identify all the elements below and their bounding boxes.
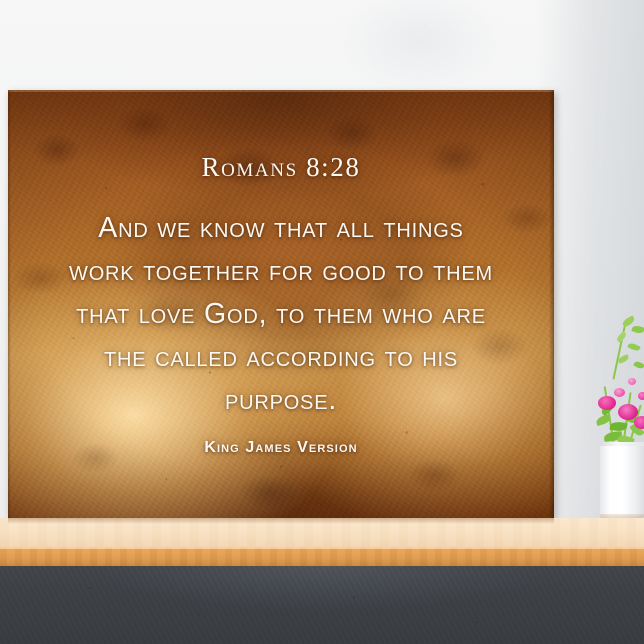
plant-flower [614,388,625,397]
artwork-text-block: Romans 8:28 And we know that all things … [8,90,554,518]
lower-wall [0,566,644,644]
verse-line-5: purpose. [15,379,547,422]
verse-line-2: work together for good to them [15,250,547,293]
verse-line-3: that love God, to them who are [15,293,547,336]
shelf-edge-grain [0,547,644,566]
scripture-canvas-artwork[interactable]: Romans 8:28 And we know that all things … [8,90,554,518]
shelf-edge-highlight [0,547,644,549]
shelf-front-edge [0,547,644,566]
plant-flower [628,378,636,385]
plant-flower [638,392,644,400]
plant-leaf [627,342,640,353]
plant-foliage [588,300,644,460]
canvas-contact-shadow [8,518,554,524]
potted-plant [588,300,644,522]
plant-pot [600,442,644,520]
plant-flower [598,396,616,410]
canvas-top-highlight [8,90,554,92]
verse-line-1: And we know that all things [15,207,547,250]
scripture-verse: And we know that all things work togethe… [15,207,547,422]
verse-line-4: the called according to his [15,336,547,379]
plant-flower [634,416,644,429]
plant-leaf [631,324,644,334]
product-scene: Romans 8:28 And we know that all things … [0,0,644,644]
scripture-reference: Romans 8:28 [202,152,361,183]
bible-version-attribution: King James Version [204,439,357,457]
plant-pot-rim [600,442,644,446]
canvas-right-shadow [549,90,554,518]
lower-wall-texture [0,566,644,644]
plant-leaf [633,360,644,370]
canvas-left-shadow [8,90,11,518]
